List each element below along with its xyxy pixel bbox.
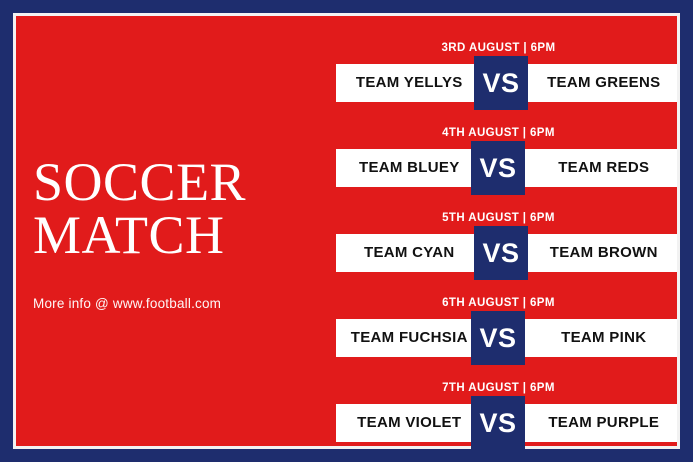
match-date: 5TH AUGUST | 6PM: [320, 212, 677, 224]
away-team-label: TEAM GREENS: [507, 64, 678, 102]
page-title: SOCCER MATCH: [33, 156, 323, 262]
match-row: 5TH AUGUST | 6PMTEAM CYANTEAM BROWNVS: [320, 212, 677, 297]
match-row: 7TH AUGUST | 6PMTEAM VIOLETTEAM PURPLEVS: [320, 382, 677, 462]
match-date: 6TH AUGUST | 6PM: [320, 297, 677, 309]
vs-badge: VS: [474, 56, 528, 110]
vs-badge: VS: [471, 396, 525, 450]
match-row: 3RD AUGUST | 6PMTEAM YELLYSTEAM GREENSVS: [320, 42, 677, 127]
match-row: 4TH AUGUST | 6PMTEAM BLUEYTEAM REDSVS: [320, 127, 677, 212]
away-team-label: TEAM REDS: [507, 149, 678, 187]
away-team-label: TEAM PINK: [507, 319, 678, 357]
away-team-label: TEAM BROWN: [507, 234, 678, 272]
more-info-text: More info @ www.football.com: [33, 296, 323, 311]
match-list: 3RD AUGUST | 6PMTEAM YELLYSTEAM GREENSVS…: [320, 42, 677, 462]
poster-left-column: SOCCER MATCH More info @ www.football.co…: [33, 156, 323, 311]
match-date: 3RD AUGUST | 6PM: [320, 42, 677, 54]
match-row: 6TH AUGUST | 6PMTEAM FUCHSIATEAM PINKVS: [320, 297, 677, 382]
vs-badge: VS: [474, 226, 528, 280]
match-date: 4TH AUGUST | 6PM: [320, 127, 677, 139]
match-date: 7TH AUGUST | 6PM: [320, 382, 677, 394]
vs-badge: VS: [471, 141, 525, 195]
vs-badge: VS: [471, 311, 525, 365]
away-team-label: TEAM PURPLE: [507, 404, 678, 442]
poster-field: SOCCER MATCH More info @ www.football.co…: [16, 16, 677, 446]
soccer-match-poster: SOCCER MATCH More info @ www.football.co…: [0, 0, 693, 462]
